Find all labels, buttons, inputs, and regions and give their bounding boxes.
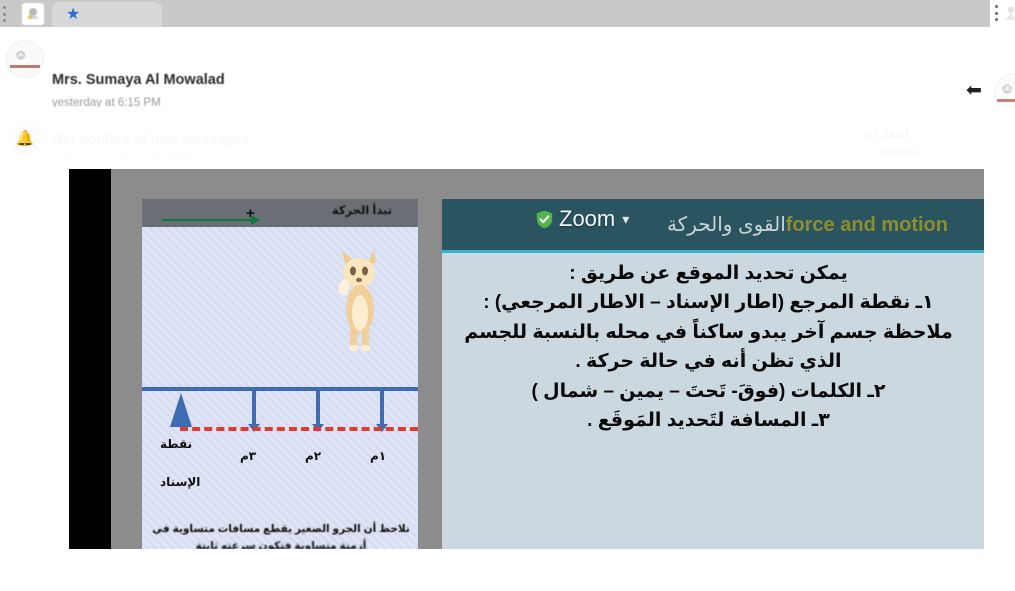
browser-tab[interactable]: ★ xyxy=(52,2,162,27)
slide-left-black-bar-lower xyxy=(69,259,111,549)
tick-label-3m: ٣م xyxy=(240,449,256,463)
bell-icon: 🔔 xyxy=(8,121,42,155)
profile-glyph-icon[interactable] xyxy=(1004,4,1015,22)
pivot-triangle-icon xyxy=(170,393,192,427)
star-icon[interactable]: ★ xyxy=(66,7,80,23)
dashed-measure-line xyxy=(180,427,418,431)
browser-top-strip: ★ xyxy=(0,0,1015,27)
tick-mark xyxy=(316,391,320,425)
slide-side-strip xyxy=(975,253,984,549)
tick-label-1m: ١م xyxy=(370,449,386,463)
slide-frame[interactable]: تبدأ الحركة + xyxy=(69,169,984,549)
motion-start-label: تبدأ الحركة xyxy=(332,203,392,217)
avatar-accent-bar xyxy=(10,65,40,68)
site-favicon-icon xyxy=(22,3,44,25)
slide-title-english: force and motion xyxy=(786,214,948,236)
slide-paragraph: ٢ـ الكلمات (فوقَ- تَحتَ – يمين – شمال ) xyxy=(454,377,963,406)
slide-paragraph: يمكن تحديد الموقع عن طريق : xyxy=(454,259,963,288)
left-menu-dots-icon[interactable] xyxy=(2,6,6,22)
back-arrow-icon[interactable]: ⬅ xyxy=(963,82,985,100)
figure-panel: نقطة الإسناد ٣م ٢م ١م نلاحظ أن الجرو الص… xyxy=(142,227,418,549)
figure-caption-line2: أزمنة متساوية فتكون سرعته ثابتة xyxy=(150,540,412,549)
message-header: ☺ Mrs. Sumaya Al Mowalad yesterday at 6:… xyxy=(0,27,1015,107)
app-root: ★ ☺ Mrs. Sumaya Al Mowalad yesterday at … xyxy=(0,0,1015,591)
tick-mark xyxy=(252,391,256,425)
reference-point-label-line2: الإسناد xyxy=(160,475,200,489)
notification-title: Get notified of new messages xyxy=(52,131,250,147)
figure-caption-line1: نلاحظ أن الجرو الصغير يقطع مسافات متساوي… xyxy=(150,522,412,538)
notification-right-title: إشعارات xyxy=(862,125,909,141)
more-vertical-icon[interactable] xyxy=(994,5,998,21)
avatar[interactable]: ☺ xyxy=(6,40,44,78)
slide-paragraph: ١ـ نقطة المرجع (اطار الإسناد – الاطار ال… xyxy=(454,288,963,376)
slide-title-bar: force and motionالقوى والحركة xyxy=(442,199,984,250)
tick-label-2m: ٢م xyxy=(305,449,321,463)
number-line xyxy=(142,387,418,391)
slide-text-panel: يمكن تحديد الموقع عن طريق : ١ـ نقطة المر… xyxy=(442,253,975,549)
chevron-down-icon[interactable]: ▾ xyxy=(622,211,629,228)
puppy-illustration-icon xyxy=(328,247,386,357)
slide-paragraph: ٣ـ المسافة لتَحديد المَوقَع . xyxy=(454,406,963,435)
sender-name: Mrs. Sumaya Al Mowalad xyxy=(52,72,225,88)
figure-motion-strip: تبدأ الحركة + xyxy=(142,199,418,227)
shield-check-icon xyxy=(536,210,553,229)
slide-title: force and motionالقوى والحركة xyxy=(667,212,956,237)
direction-arrow-icon xyxy=(162,219,258,221)
slide-title-arabic: القوى والحركة xyxy=(667,214,786,236)
avatar-glyph-icon: ☺ xyxy=(1000,80,1014,96)
reference-point-label-line1: نقطة xyxy=(160,437,192,451)
avatar-glyph-icon: ☺ xyxy=(14,47,27,62)
bottom-spacer xyxy=(0,549,1015,591)
zoom-app-badge[interactable]: Zoom ▾ xyxy=(536,206,629,232)
zoom-label: Zoom xyxy=(559,206,615,232)
avatar-accent-bar xyxy=(997,99,1015,102)
tick-mark xyxy=(380,391,384,425)
slide-viewer: تبدأ الحركة + xyxy=(0,155,1015,555)
